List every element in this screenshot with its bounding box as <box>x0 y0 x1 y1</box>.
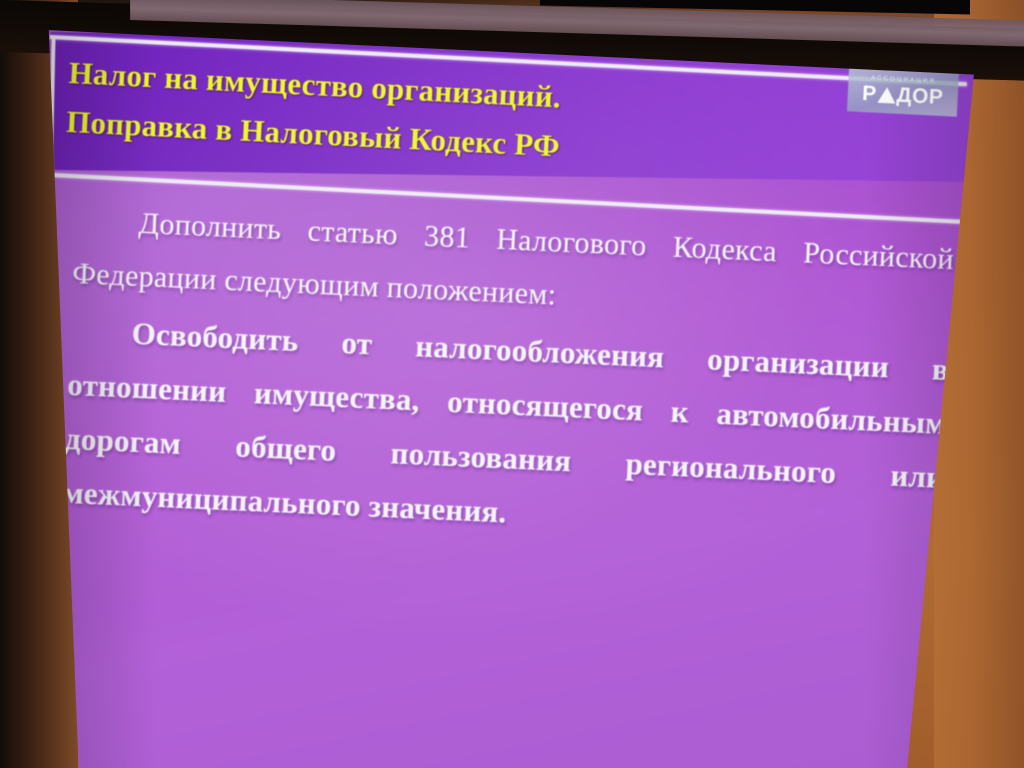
slide-body: Дополнить статью 381 Налогового Кодекса … <box>61 194 955 559</box>
slide-paragraph-2: Освободить от налогообложения организаци… <box>61 304 950 559</box>
logo-text-before-mark: Р <box>862 81 878 105</box>
logo-text-after-mark: ДОР <box>896 83 944 108</box>
projection-screen-area: Налог на имущество организаций. Поправка… <box>0 0 1024 768</box>
screenshot-root: Налог на имущество организаций. Поправка… <box>0 0 1024 768</box>
triangle-a-icon <box>877 87 896 104</box>
presentation-slide: Налог на имущество организаций. Поправка… <box>46 26 974 768</box>
radar-association-logo: АССОЦИАЦИЯ Р ДОР <box>847 65 959 117</box>
logo-wordmark: Р ДОР <box>862 81 944 108</box>
